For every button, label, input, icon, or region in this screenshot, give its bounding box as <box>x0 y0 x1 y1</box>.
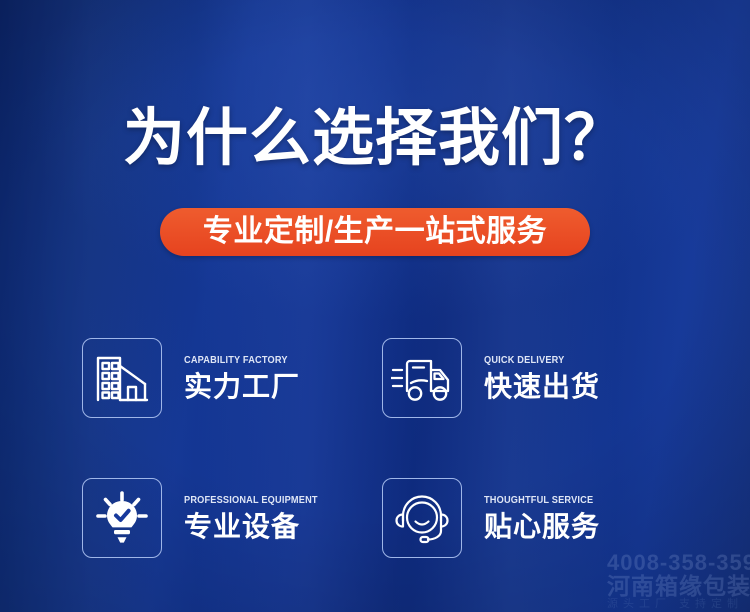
feature-item-professional-equipment: PROFESSIONAL EQUIPMENT 专业设备 <box>82 448 382 588</box>
feature-title-cn: 专业设备 <box>184 513 329 541</box>
feature-item-thoughtful-service: THOUGHTFUL SERVICE 贴心服务 <box>382 448 682 588</box>
feature-text: QUICK DELIVERY 快速出货 <box>484 355 600 401</box>
feature-grid: CAPABILITY FACTORY 实力工厂 <box>82 308 682 588</box>
feature-title-cn: 贴心服务 <box>484 513 603 541</box>
lightbulb-check-icon <box>94 490 150 546</box>
icon-box <box>82 338 162 418</box>
feature-item-capability-factory: CAPABILITY FACTORY 实力工厂 <box>82 308 382 448</box>
icon-box <box>82 478 162 558</box>
icon-box <box>382 338 462 418</box>
promo-banner: 为什么选择我们？ 专业定制/生产一站式服务 <box>0 0 750 612</box>
factory-building-icon <box>93 351 151 405</box>
feature-subtitle-en: QUICK DELIVERY <box>484 355 591 366</box>
feature-text: THOUGHTFUL SERVICE 贴心服务 <box>484 495 603 541</box>
feature-subtitle-en: CAPABILITY FACTORY <box>184 355 291 366</box>
feature-item-quick-delivery: QUICK DELIVERY 快速出货 <box>382 308 682 448</box>
icon-box <box>382 478 462 558</box>
feature-text: PROFESSIONAL EQUIPMENT 专业设备 <box>184 495 329 541</box>
feature-subtitle-en: THOUGHTFUL SERVICE <box>484 495 593 506</box>
feature-title-cn: 快速出货 <box>484 373 600 401</box>
subtitle-text: 专业定制/生产一站式服务 <box>203 217 547 247</box>
subtitle-badge: 专业定制/生产一站式服务 <box>160 208 590 256</box>
page-title: 为什么选择我们？ <box>0 108 750 170</box>
delivery-truck-icon <box>391 353 453 403</box>
feature-text: CAPABILITY FACTORY 实力工厂 <box>184 355 300 401</box>
feature-subtitle-en: PROFESSIONAL EQUIPMENT <box>184 495 318 506</box>
feature-title-cn: 实力工厂 <box>184 373 300 401</box>
watermark-slogan: 源头工厂 支持定制 <box>607 598 750 610</box>
headset-support-icon <box>393 490 451 546</box>
